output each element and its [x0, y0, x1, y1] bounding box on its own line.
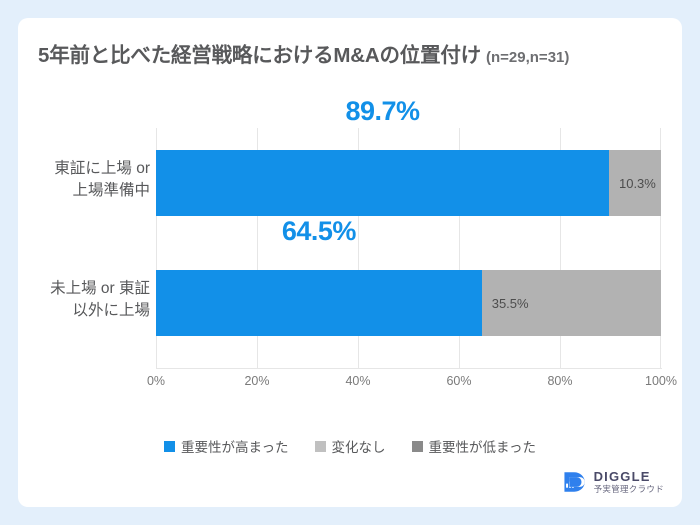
x-tick-label: 0%: [147, 374, 165, 388]
x-axis-line: [156, 368, 662, 369]
plot-area: 10.3% 35.5% 89.7% 64.5%: [156, 128, 661, 368]
legend-label: 重要性が高まった: [181, 436, 288, 456]
bar-segment-increased[interactable]: [156, 150, 609, 216]
legend-item-decreased[interactable]: 重要性が低まった: [412, 436, 536, 456]
data-label-primary: 64.5%: [282, 216, 356, 247]
category-label-0: 東証に上場 or 上場準備中: [0, 158, 150, 203]
page-background: 5年前と比べた経営戦略におけるM&Aの位置付け (n=29,n=31) 10.3…: [0, 0, 700, 525]
bar-segment-increased[interactable]: [156, 270, 482, 336]
category-label-1: 未上場 or 東証 以外に上場: [0, 278, 150, 323]
bar-row: 35.5%: [156, 270, 661, 336]
legend-label: 変化なし: [332, 436, 386, 456]
category-label-line1: 未上場 or 東証: [50, 280, 150, 297]
bar-segment-nochange[interactable]: 10.3%: [609, 150, 661, 216]
x-tick-label: 60%: [446, 374, 471, 388]
legend-swatch-icon: [412, 441, 423, 452]
page-title: 5年前と比べた経営戦略におけるM&Aの位置付け (n=29,n=31): [38, 38, 668, 68]
logo-name: DIGGLE: [594, 470, 664, 484]
legend-swatch-icon: [164, 441, 175, 452]
category-label-line1: 東証に上場 or: [54, 160, 150, 177]
x-tick-label: 80%: [547, 374, 572, 388]
data-label-primary: 89.7%: [345, 96, 419, 127]
legend-label: 重要性が低まった: [429, 436, 536, 456]
chart-legend: 重要性が高まった 変化なし 重要性が低まった: [18, 436, 682, 456]
chart-card: 5年前と比べた経営戦略におけるM&Aの位置付け (n=29,n=31) 10.3…: [18, 18, 682, 507]
title-sample-size: (n=29,n=31): [486, 49, 569, 66]
x-tick-label: 100%: [645, 374, 677, 388]
category-label-line2: 上場準備中: [0, 180, 150, 202]
logo-text-block: DIGGLE 予実管理クラウド: [594, 470, 664, 494]
title-main-text: 5年前と比べた経営戦略におけるM&Aの位置付け: [38, 38, 481, 68]
bar-segment-label: 10.3%: [609, 176, 656, 191]
legend-item-increased[interactable]: 重要性が高まった: [164, 436, 288, 456]
bar-row: 10.3%: [156, 150, 661, 216]
x-tick-label: 40%: [345, 374, 370, 388]
diggle-logo: DIGGLE 予実管理クラウド: [562, 469, 664, 495]
category-label-line2: 以外に上場: [0, 300, 150, 322]
legend-swatch-icon: [315, 441, 326, 452]
logo-tagline: 予実管理クラウド: [594, 485, 664, 494]
diggle-d-barchart-icon: [562, 469, 588, 495]
legend-item-nochange[interactable]: 変化なし: [315, 436, 386, 456]
bar-segment-label: 35.5%: [482, 296, 529, 311]
x-tick-label: 20%: [244, 374, 269, 388]
stacked-bar-chart: 10.3% 35.5% 89.7% 64.5% 東証に上場 or: [18, 92, 682, 422]
bar-segment-nochange[interactable]: 35.5%: [482, 270, 661, 336]
